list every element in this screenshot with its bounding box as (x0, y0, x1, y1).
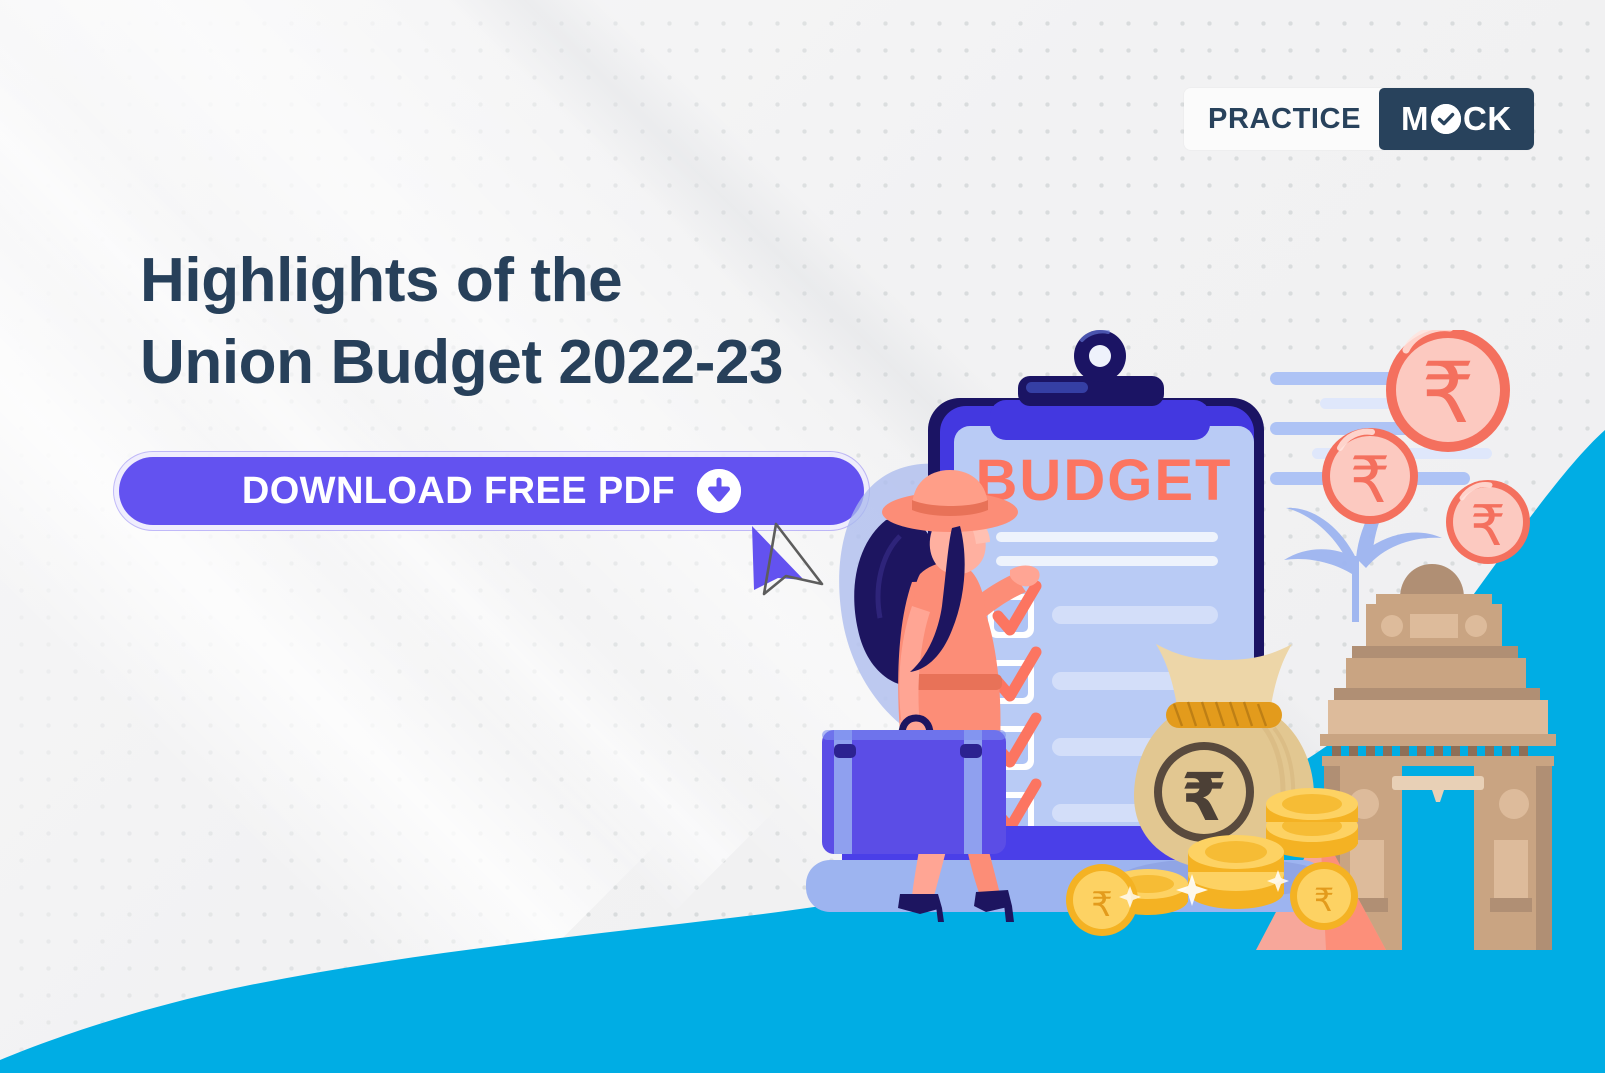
logo-mock-ck: CK (1463, 100, 1512, 138)
money-bag-rupee-symbol: ₹ (1181, 759, 1227, 836)
briefcase (822, 718, 1006, 854)
rupee-coin-small: ₹ (1446, 480, 1530, 564)
logo-practice-text: PRACTICE (1184, 88, 1379, 150)
clipboard-title: BUDGET (976, 448, 1233, 513)
download-arrow-icon (697, 469, 741, 513)
budget-promo-banner: PRACTICE M CK Highlights of the Union Bu… (0, 0, 1605, 1073)
headline-line-1: Highlights of the (140, 246, 622, 315)
page-title: Highlights of the Union Budget 2022-23 (140, 240, 783, 405)
rupee-symbol: ₹ (1350, 444, 1391, 518)
headline-line-2: Union Budget 2022-23 (140, 322, 783, 404)
budget-illustration: BUDGET (800, 330, 1605, 950)
rupee-symbol: ₹ (1421, 344, 1474, 442)
rupee-coin-large: ₹ (1386, 330, 1510, 452)
download-button-label: DOWNLOAD FREE PDF (242, 470, 675, 513)
check-circle-icon (1431, 104, 1461, 134)
rupee-coin-medium: ₹ (1322, 428, 1418, 524)
download-free-pdf-button[interactable]: DOWNLOAD FREE PDF (119, 457, 864, 525)
svg-text:₹: ₹ (1314, 881, 1334, 919)
svg-text:₹: ₹ (1091, 885, 1113, 925)
brand-logo[interactable]: PRACTICE M CK (1184, 88, 1534, 150)
rupee-symbol: ₹ (1470, 494, 1506, 559)
logo-mock-m: M (1401, 100, 1429, 138)
logo-mock-badge: M CK (1379, 88, 1534, 150)
